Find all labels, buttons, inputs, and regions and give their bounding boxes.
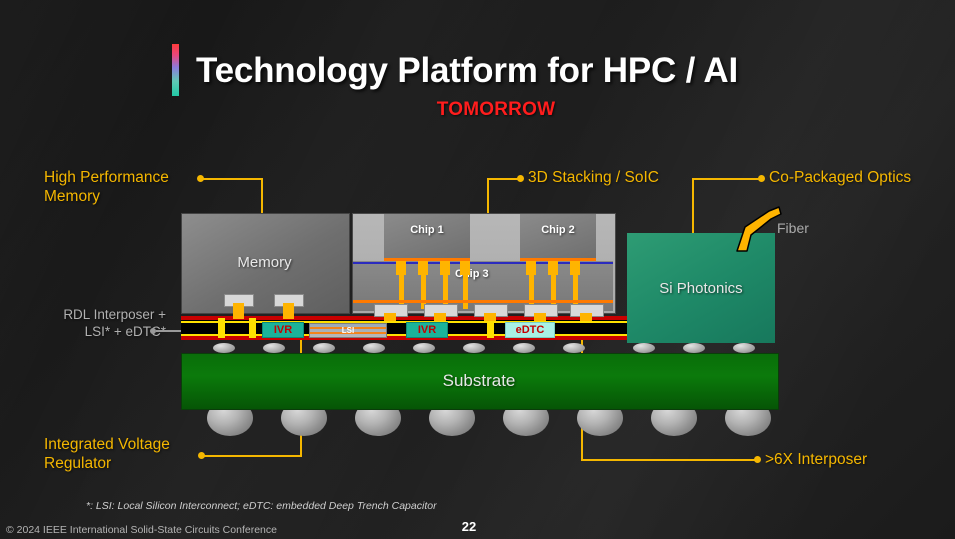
micro-bump [463,343,485,353]
leader-line-memory-h [203,178,263,180]
lsi-label: LSI [342,326,354,335]
micro-bump [633,343,655,353]
footer-copyright: © 2024 IEEE International Solid-State Ci… [6,524,277,536]
stack-pillar [526,261,536,275]
leader-line-cpo-h [692,178,760,180]
interposer-tsv [218,318,225,338]
interposer-yellow-bottom [181,334,627,336]
memory-pillar [233,303,244,319]
callout-high-performance-memory: High Performance Memory [44,168,224,206]
title-accent-bar [172,44,179,96]
lsi-block: LSI [309,323,387,338]
page-number: 22 [449,519,489,534]
callout-interposer-size: >6X Interposer [765,450,945,469]
stack-bump [484,313,496,321]
edtc-block: eDTC [505,322,555,338]
ivr-block-1: IVR [262,322,304,338]
memory-label: Memory [181,213,348,312]
interposer-red-bottom [181,336,627,340]
leader-line-soic-h [487,178,519,180]
leader-line-cpo-v [692,178,694,238]
leader-line-soic-v [487,178,489,215]
stack-pillar [460,261,470,275]
substrate-label: Substrate [181,353,777,408]
micro-bump [313,343,335,353]
callout-rdl-interposer: RDL Interposer + LSI* + eDTC* [46,306,166,340]
interposer-yellow-top [181,321,627,323]
fiber-label: Fiber [777,220,809,236]
micro-bump [263,343,285,353]
page-title: Technology Platform for HPC / AI [196,44,916,98]
micro-bump [363,343,385,353]
chip1-label: Chip 1 [384,214,470,246]
leader-line-6x-h [581,459,757,461]
micro-bump [563,343,585,353]
stack-pillar [548,261,558,275]
interposer-tsv [249,318,256,338]
micro-bump [683,343,705,353]
micro-bump [733,343,755,353]
stack-pillar [570,261,580,275]
micro-bump [213,343,235,353]
stack-pillar [396,261,406,275]
stack-rdl-layer [353,300,613,303]
ivr-block-2: IVR [406,322,448,338]
stack-bump [384,313,396,321]
callout-integrated-voltage-regulator: Integrated Voltage Regulator [44,435,214,473]
micro-bump [513,343,535,353]
callout-co-packaged-optics: Co-Packaged Optics [769,168,955,187]
stack-bump [580,313,592,321]
micro-bump [413,343,435,353]
stack-pillar [463,274,468,309]
interposer-tsv [487,318,494,338]
footnote-text: *: LSI: Local Silicon Interconnect; eDTC… [86,500,437,512]
stack-pillar [418,261,428,275]
page-subtitle: TOMORROW [196,99,796,121]
stack-pillar [440,261,450,275]
stack-bump [534,313,546,321]
memory-pillar [283,303,294,319]
stack-bump [434,313,446,321]
leader-line-ivr-h [204,455,302,457]
chip2-label: Chip 2 [520,214,596,246]
leader-line-memory-v [261,178,263,215]
slide-canvas: Technology Platform for HPC / AI TOMORRO… [0,0,955,539]
